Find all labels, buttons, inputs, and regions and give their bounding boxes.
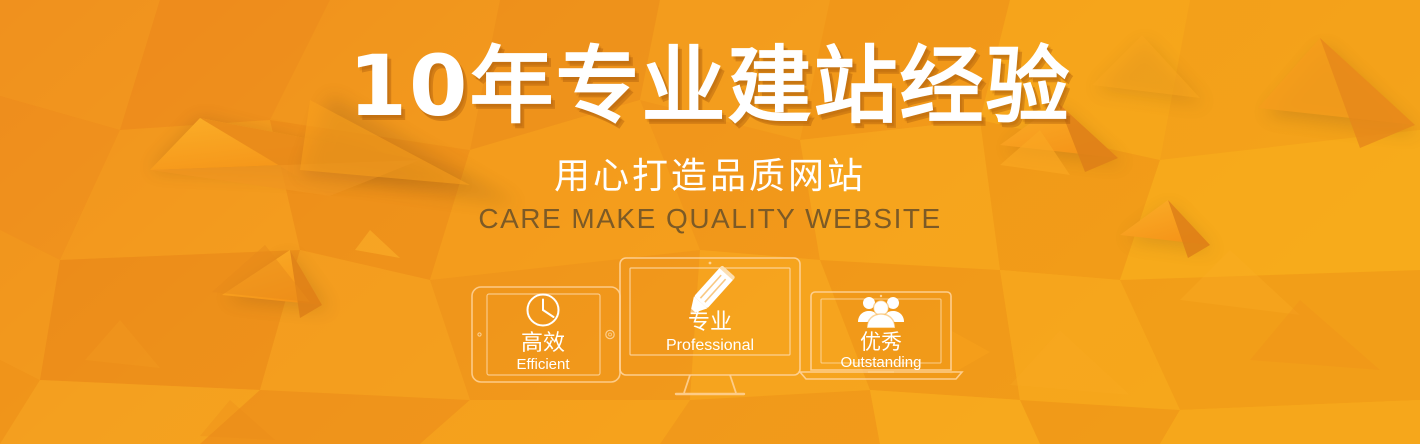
laptop-camera-icon (880, 295, 882, 297)
feature-label-cn-professional: 专业 (688, 310, 732, 335)
feature-card-outstanding[interactable]: 优秀 Outstanding (800, 292, 962, 379)
feature-label-en-professional: Professional (666, 337, 754, 354)
people-group-icon (858, 297, 904, 328)
feature-devices-group: 高效 Efficient (0, 0, 1420, 444)
promo-banner: 10年专业建站经验 用心打造品质网站 CARE MAKE QUALITY WEB… (0, 0, 1420, 444)
clock-icon (528, 295, 559, 326)
monitor-camera-icon (709, 262, 712, 265)
feature-label-en-efficient: Efficient (516, 356, 570, 373)
feature-label-cn-outstanding: 优秀 (860, 330, 902, 354)
feature-card-professional[interactable]: 专业 Professional (620, 258, 800, 394)
feature-label-cn-efficient: 高效 (521, 331, 565, 356)
monitor-stand-neck (684, 375, 736, 393)
tablet-home-button[interactable] (606, 330, 614, 338)
feature-label-en-outstanding: Outstanding (841, 354, 922, 371)
tablet-camera-icon (478, 333, 481, 336)
tablet-home-button-inner-icon (609, 333, 612, 336)
feature-card-efficient[interactable]: 高效 Efficient (472, 287, 620, 382)
laptop-base (800, 372, 962, 379)
